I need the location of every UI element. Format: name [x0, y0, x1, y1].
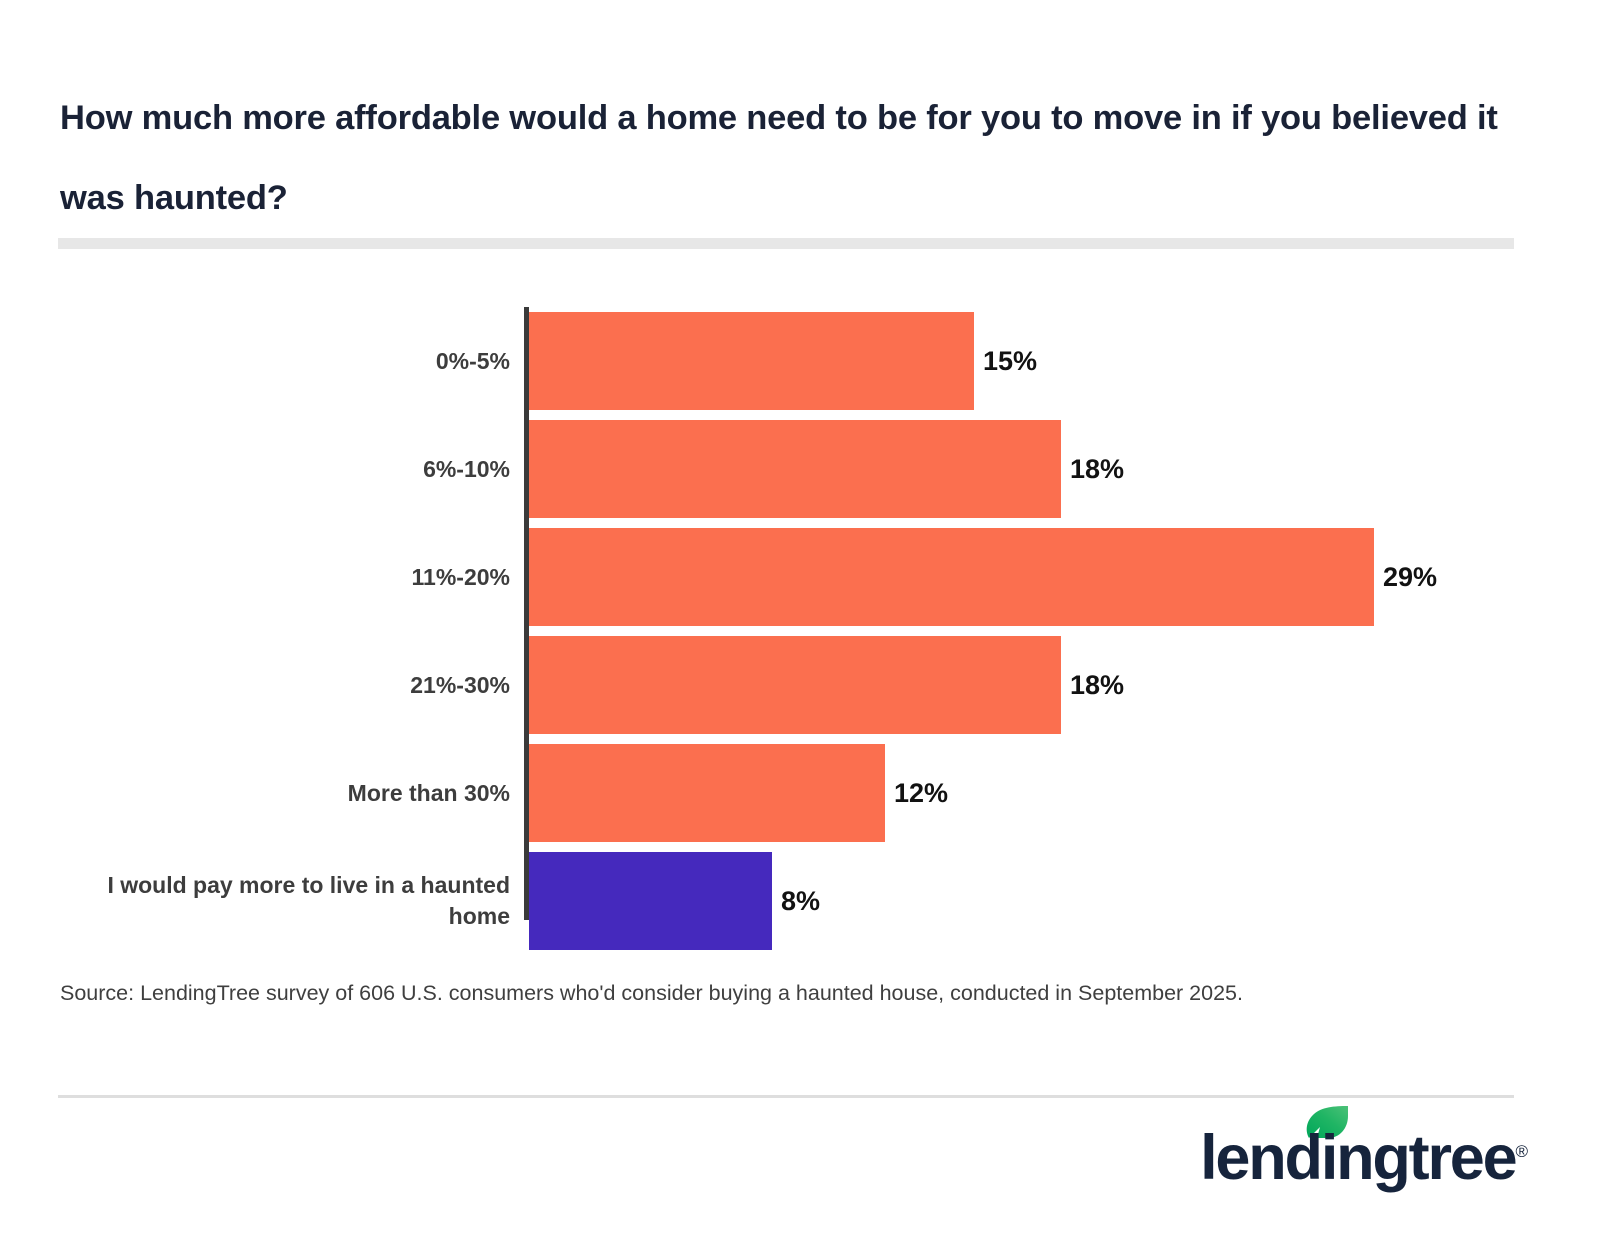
bar-value-label: 15% — [983, 346, 1037, 377]
category-label: 0%-5% — [48, 346, 510, 377]
bar-row: 11%-20% 29% — [0, 528, 1600, 626]
category-label: More than 30% — [48, 778, 510, 809]
bar-2[interactable] — [529, 528, 1374, 626]
lendingtree-logo: lendingtree® — [1200, 1108, 1528, 1194]
bar-row: More than 30% 12% — [0, 744, 1600, 842]
logo-wordmark-text: lendingtree — [1200, 1123, 1515, 1193]
bar-group: 18% — [529, 420, 1124, 518]
registered-trademark-icon: ® — [1515, 1142, 1528, 1161]
category-label: I would pay more to live in a haunted ho… — [48, 870, 510, 932]
bar-value-label: 8% — [781, 886, 820, 917]
category-label: 21%-30% — [48, 670, 510, 701]
bar-chart: 0%-5% 15% 6%-10% 18% 11%-20% 29% — [0, 300, 1600, 925]
bar-group: 18% — [529, 636, 1124, 734]
bar-group: 15% — [529, 312, 1037, 410]
logo-wordmark: lendingtree® — [1200, 1116, 1528, 1194]
header-divider — [58, 238, 1514, 249]
bar-5[interactable] — [529, 852, 772, 950]
bar-0[interactable] — [529, 312, 974, 410]
source-note: Source: LendingTree survey of 606 U.S. c… — [60, 978, 1243, 1008]
page-title: How much more affordable would a home ne… — [60, 78, 1510, 238]
bar-row: 21%-30% 18% — [0, 636, 1600, 734]
footer-divider — [58, 1095, 1514, 1098]
chart-page: How much more affordable would a home ne… — [0, 0, 1600, 1238]
category-label: 11%-20% — [48, 562, 510, 593]
bar-value-label: 18% — [1070, 454, 1124, 485]
bar-rows: 0%-5% 15% 6%-10% 18% 11%-20% 29% — [0, 312, 1600, 960]
bar-row: I would pay more to live in a haunted ho… — [0, 852, 1600, 950]
bar-1[interactable] — [529, 420, 1061, 518]
bar-3[interactable] — [529, 636, 1061, 734]
bar-4[interactable] — [529, 744, 885, 842]
bar-value-label: 12% — [894, 778, 948, 809]
bar-value-label: 18% — [1070, 670, 1124, 701]
bar-row: 0%-5% 15% — [0, 312, 1600, 410]
bar-group: 12% — [529, 744, 948, 842]
bar-group: 8% — [529, 852, 820, 950]
bar-value-label: 29% — [1383, 562, 1437, 593]
title-block: How much more affordable would a home ne… — [60, 78, 1510, 238]
bar-group: 29% — [529, 528, 1437, 626]
bar-row: 6%-10% 18% — [0, 420, 1600, 518]
category-label: 6%-10% — [48, 454, 510, 485]
